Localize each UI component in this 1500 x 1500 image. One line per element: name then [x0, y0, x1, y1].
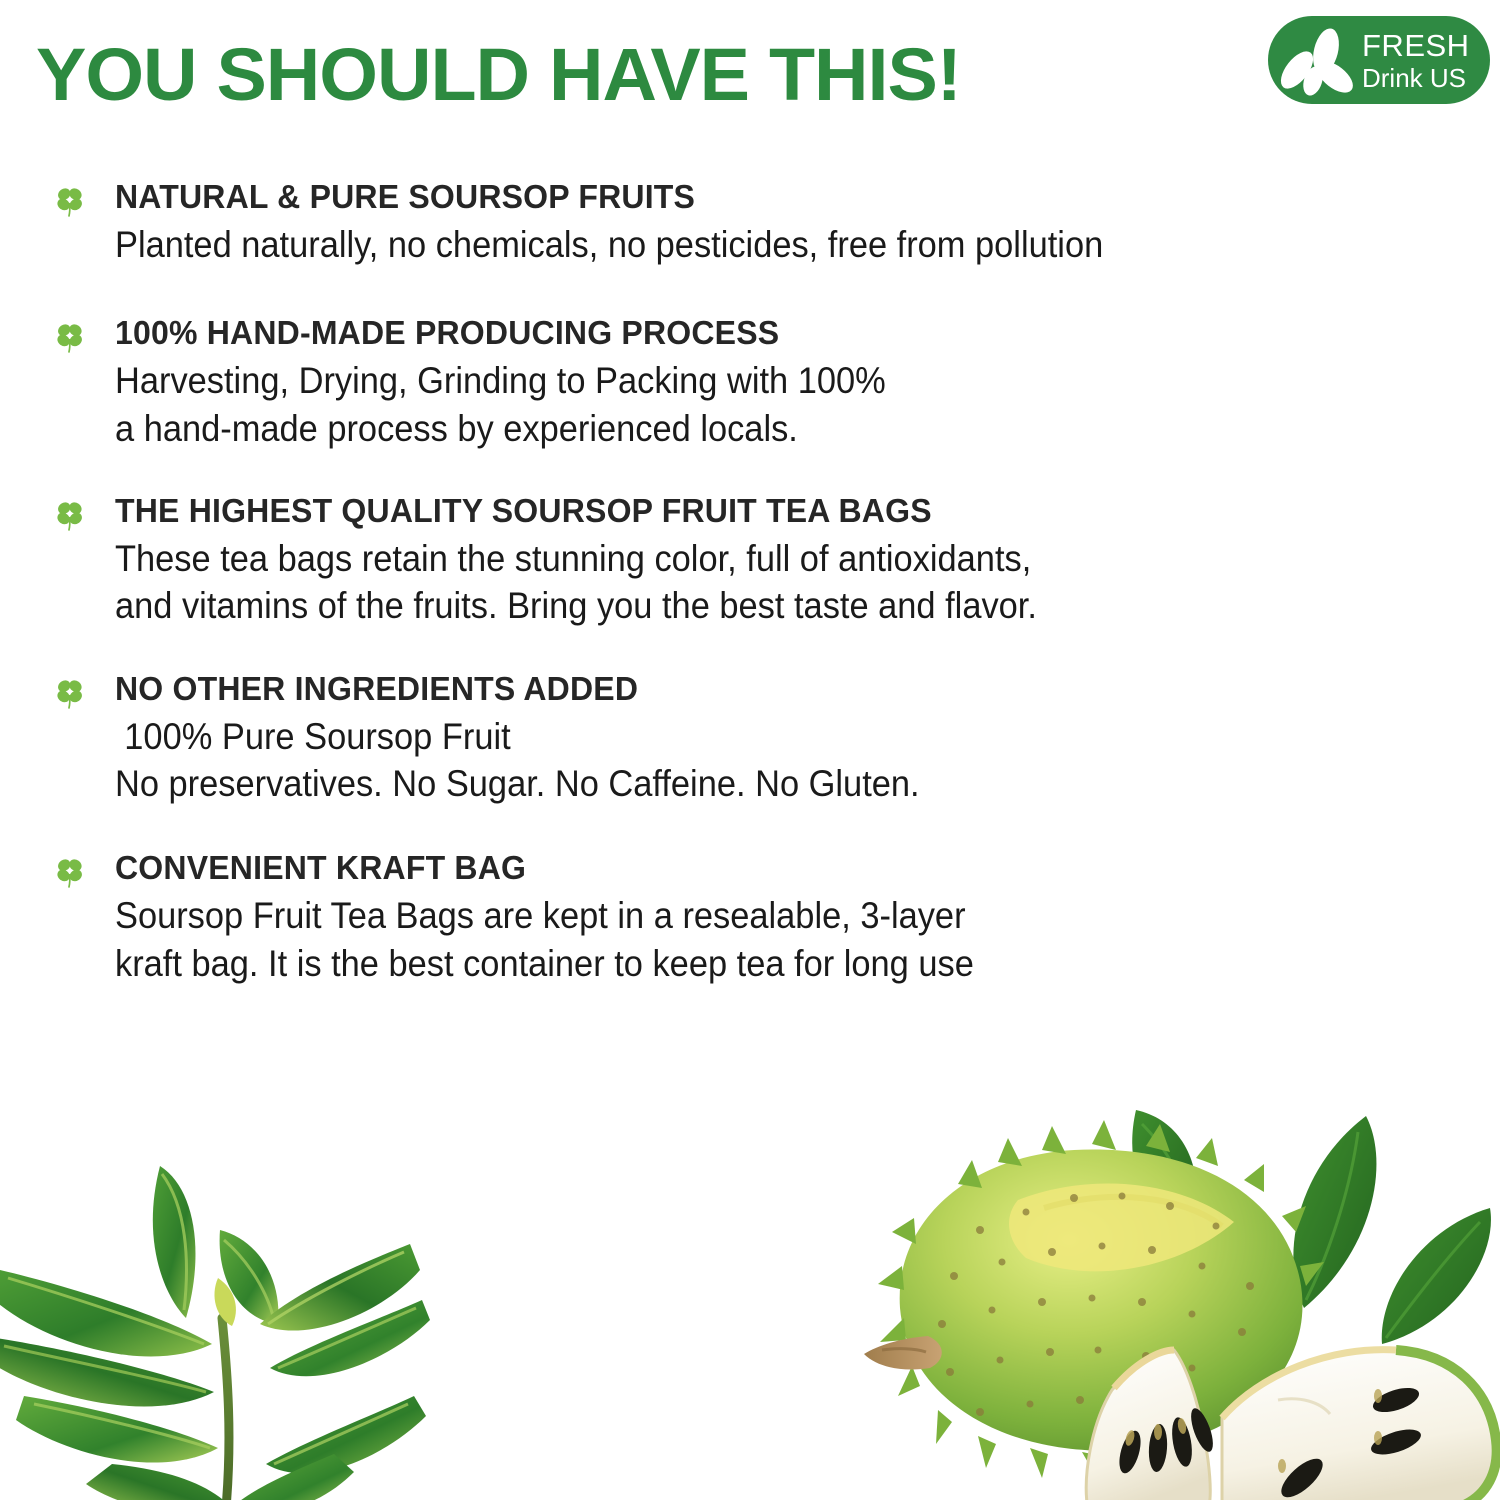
feature-body: Harvesting, Drying, Grinding to Packing …: [115, 357, 1460, 452]
soursop-fruit-and-slices-photo: [830, 1100, 1500, 1500]
feature-title: NO OTHER INGREDIENTS ADDED: [115, 670, 1420, 709]
clover-icon: [53, 498, 87, 532]
clover-icon: [53, 320, 87, 354]
feature-item: NATURAL & PURE SOURSOP FRUITS Planted na…: [0, 178, 1460, 268]
feature-title: 100% HAND-MADE PRODUCING PROCESS: [115, 314, 1420, 353]
brand-name-bottom: Drink US: [1362, 65, 1470, 91]
feature-line: and vitamins of the fruits. Bring you th…: [115, 582, 1366, 629]
feature-line: 100% Pure Soursop Fruit: [115, 713, 1366, 760]
clover-icon: [53, 184, 87, 218]
feature-title: CONVENIENT KRAFT BAG: [115, 849, 1420, 888]
feature-line: These tea bags retain the stunning color…: [115, 535, 1366, 582]
product-feature-banner: YOU SHOULD HAVE THIS! FRESH Drink US: [0, 0, 1500, 1500]
page-title: YOU SHOULD HAVE THIS!: [36, 32, 961, 117]
feature-line: No preservatives. No Sugar. No Caffeine.…: [115, 760, 1366, 807]
feature-line: kraft bag. It is the best container to k…: [115, 940, 1366, 987]
brand-name-top: FRESH: [1362, 30, 1470, 61]
feature-body: Soursop Fruit Tea Bags are kept in a res…: [115, 892, 1460, 987]
clover-icon: [53, 676, 87, 710]
feature-title: THE HIGHEST QUALITY SOURSOP FRUIT TEA BA…: [115, 492, 1420, 531]
feature-line: a hand-made process by experienced local…: [115, 405, 1366, 452]
feature-body: Planted naturally, no chemicals, no pest…: [115, 221, 1460, 268]
feature-line: Soursop Fruit Tea Bags are kept in a res…: [115, 892, 1366, 939]
feature-item: CONVENIENT KRAFT BAG Soursop Fruit Tea B…: [0, 849, 1460, 987]
soursop-leaf-sprig-photo: [0, 1148, 510, 1500]
feature-line: Harvesting, Drying, Grinding to Packing …: [115, 357, 1366, 404]
clover-icon: [53, 855, 87, 889]
feature-item: THE HIGHEST QUALITY SOURSOP FRUIT TEA BA…: [0, 492, 1460, 630]
four-leaf-logo-icon: [1274, 18, 1358, 102]
feature-body: 100% Pure Soursop Fruit No preservatives…: [115, 713, 1460, 808]
feature-list: NATURAL & PURE SOURSOP FRUITS Planted na…: [0, 178, 1460, 987]
feature-body: These tea bags retain the stunning color…: [115, 535, 1460, 630]
feature-item: 100% HAND-MADE PRODUCING PROCESS Harvest…: [0, 314, 1460, 452]
feature-title: NATURAL & PURE SOURSOP FRUITS: [115, 178, 1420, 217]
feature-line: Planted naturally, no chemicals, no pest…: [115, 221, 1366, 268]
brand-wordmark: FRESH Drink US: [1362, 30, 1470, 91]
feature-item: NO OTHER INGREDIENTS ADDED 100% Pure Sou…: [0, 670, 1460, 808]
brand-logo: FRESH Drink US: [1268, 16, 1490, 104]
